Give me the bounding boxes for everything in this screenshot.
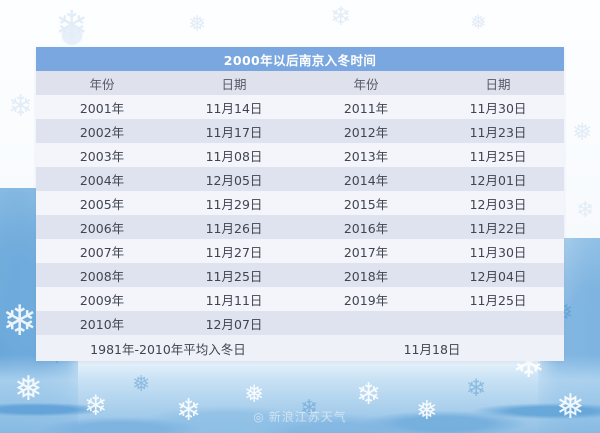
cell-date-left: 11月29日 bbox=[168, 191, 300, 215]
cell-year-right: 2012年 bbox=[300, 119, 432, 143]
snowflake-icon: ❄ bbox=[55, 6, 89, 46]
cell-year-left: 2008年 bbox=[36, 263, 168, 287]
table-row: 2001年 11月14日 2011年 11月30日 bbox=[36, 95, 564, 119]
snowflake-icon: ❅ bbox=[416, 398, 438, 424]
column-header-year-left: 年份 bbox=[36, 71, 168, 95]
cell-date-right: 11月30日 bbox=[432, 239, 564, 263]
cell-date-right bbox=[432, 311, 564, 335]
table-footer-row: 1981年-2010年平均入冬日 11月18日 bbox=[36, 335, 564, 361]
table-row: 2010年 12月07日 bbox=[36, 311, 564, 335]
table-title-row: 2000年以后南京入冬时间 bbox=[36, 47, 564, 71]
cell-year-left: 2001年 bbox=[36, 95, 168, 119]
winter-onset-table: 2000年以后南京入冬时间 年份 日期 年份 日期 2001年 11月14日 2… bbox=[36, 47, 564, 361]
table-row: 2008年 11月25日 2018年 12月04日 bbox=[36, 263, 564, 287]
cell-year-right: 2016年 bbox=[300, 215, 432, 239]
snowflake-icon: ❄ bbox=[84, 392, 107, 420]
snowflake-icon: ❄ bbox=[576, 200, 594, 222]
cell-date-right: 11月25日 bbox=[432, 143, 564, 167]
cell-date-left: 11月27日 bbox=[168, 239, 300, 263]
cell-year-right: 2019年 bbox=[300, 287, 432, 311]
snowflake-icon: ❄ bbox=[466, 376, 486, 400]
cell-date-right: 12月04日 bbox=[432, 263, 564, 287]
cell-date-right: 12月03日 bbox=[432, 191, 564, 215]
snowflake-icon: ❅ bbox=[556, 390, 585, 424]
cell-year-left: 2006年 bbox=[36, 215, 168, 239]
cell-date-right: 12月01日 bbox=[432, 167, 564, 191]
watermark: ◎新浪江苏天气 bbox=[0, 408, 600, 425]
table-row: 2002年 11月17日 2012年 11月23日 bbox=[36, 119, 564, 143]
table-row: 2005年 11月29日 2015年 12月03日 bbox=[36, 191, 564, 215]
snowflake-icon: ❄ bbox=[356, 380, 381, 410]
cell-year-left: 2003年 bbox=[36, 143, 168, 167]
cell-date-left: 11月25日 bbox=[168, 263, 300, 287]
snowflake-icon: ❅ bbox=[132, 374, 150, 396]
cell-year-right: 2014年 bbox=[300, 167, 432, 191]
column-header-date-right: 日期 bbox=[432, 71, 564, 95]
cell-year-right: 2015年 bbox=[300, 191, 432, 215]
snowflake-icon: ❄ bbox=[176, 396, 201, 426]
cell-date-right: 11月23日 bbox=[432, 119, 564, 143]
table-row: 2007年 11月27日 2017年 11月30日 bbox=[36, 239, 564, 263]
cell-year-right: 2018年 bbox=[300, 263, 432, 287]
table-header-row: 年份 日期 年份 日期 bbox=[36, 71, 564, 95]
snowflake-icon: ❅ bbox=[572, 120, 592, 144]
cell-year-right bbox=[300, 311, 432, 335]
cell-date-right: 11月22日 bbox=[432, 215, 564, 239]
poster-canvas: ❄ ❅ ❄ ❅ ❄ ❅ ❅ ❄ ❄ ❅ ❄ ❄ ❅ ❄ ❅ ❄ ❄ ❅ ❄ ❄ … bbox=[0, 0, 600, 433]
footer-label: 1981年-2010年平均入冬日 bbox=[36, 335, 300, 361]
table-row: 2009年 11月11日 2019年 11月25日 bbox=[36, 287, 564, 311]
snowflake-icon: ❄ bbox=[2, 300, 37, 342]
cell-year-right: 2011年 bbox=[300, 95, 432, 119]
cell-year-left: 2007年 bbox=[36, 239, 168, 263]
snowflake-icon: ❄ bbox=[330, 4, 352, 30]
snowflake-icon: ❅ bbox=[188, 14, 206, 36]
cell-year-right: 2013年 bbox=[300, 143, 432, 167]
cell-date-right: 11月25日 bbox=[432, 287, 564, 311]
snowflake-icon: ❅ bbox=[470, 12, 487, 32]
snowflake-icon: ❅ bbox=[4, 186, 26, 212]
cell-date-left: 11月11日 bbox=[168, 287, 300, 311]
cell-date-left: 11月08日 bbox=[168, 143, 300, 167]
snowflake-icon: ❅ bbox=[244, 382, 264, 406]
table-row: 2004年 12月05日 2014年 12月01日 bbox=[36, 167, 564, 191]
cell-date-right: 11月30日 bbox=[432, 95, 564, 119]
table-row: 2003年 11月08日 2013年 11月25日 bbox=[36, 143, 564, 167]
table-title: 2000年以后南京入冬时间 bbox=[36, 47, 564, 71]
cell-year-left: 2005年 bbox=[36, 191, 168, 215]
cell-year-left: 2004年 bbox=[36, 167, 168, 191]
cell-year-left: 2010年 bbox=[36, 311, 168, 335]
cell-date-left: 12月07日 bbox=[168, 311, 300, 335]
cell-date-left: 11月26日 bbox=[168, 215, 300, 239]
snowflake-icon: ❅ bbox=[14, 372, 43, 406]
column-header-year-right: 年份 bbox=[300, 71, 432, 95]
cell-year-right: 2017年 bbox=[300, 239, 432, 263]
cell-date-left: 12月05日 bbox=[168, 167, 300, 191]
cell-date-left: 11月14日 bbox=[168, 95, 300, 119]
watercolor-bottom bbox=[0, 355, 600, 433]
cell-year-left: 2002年 bbox=[36, 119, 168, 143]
column-header-date-left: 日期 bbox=[168, 71, 300, 95]
snowflake-icon: ❄ bbox=[8, 92, 33, 122]
footer-value: 11月18日 bbox=[300, 335, 564, 361]
cell-year-left: 2009年 bbox=[36, 287, 168, 311]
table-row: 2006年 11月26日 2016年 11月22日 bbox=[36, 215, 564, 239]
snowflake-icon: ❄ bbox=[300, 398, 318, 420]
watermark-text: 新浪江苏天气 bbox=[269, 410, 347, 424]
cell-date-left: 11月17日 bbox=[168, 119, 300, 143]
watermark-mark-icon: ◎ bbox=[253, 410, 264, 424]
